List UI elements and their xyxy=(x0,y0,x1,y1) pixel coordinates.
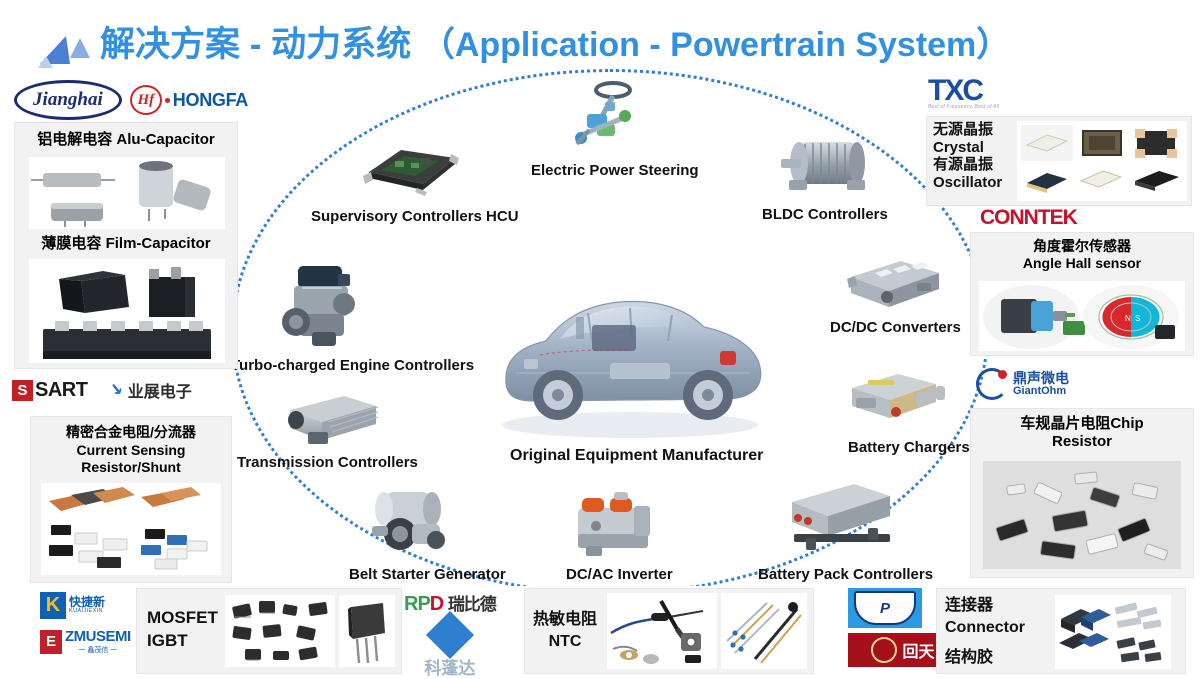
ntc-box: 热敏电阻 NTC xyxy=(524,588,814,674)
node-label-bpc: Battery Pack Controllers xyxy=(758,566,933,583)
giantohm-mark-icon xyxy=(976,368,1008,400)
film-cap-label-en: Film-Capacitor xyxy=(106,235,211,252)
panel-capacitors: Jianghai Hf HONGFA 铝电解电容 Alu-Capacitor xyxy=(8,80,248,370)
hall-label-cn: 角度霍尔传感器 xyxy=(971,238,1193,255)
panel-current-sensing: S SART ↘ 业展电子 精密合金电阻/分流器 Current Sensing… xyxy=(8,378,240,578)
txc-logo: TXC Best of Frequency, Best of All xyxy=(928,78,999,110)
turbo-engine-photo xyxy=(272,252,372,352)
crystal-line-4: Oscillator xyxy=(933,174,1002,192)
hongfa-dot-icon xyxy=(165,98,170,103)
huitian-ring-icon xyxy=(871,637,897,663)
mosfet-igbt-box: MOSFET IGBT xyxy=(136,588,402,674)
chip-resistor-label-en: Resistor xyxy=(971,433,1193,451)
page-title-cn: 解决方案 - 动力系统 xyxy=(100,25,411,64)
crystal-line-3: 有源晶振 xyxy=(933,156,1002,174)
connector-brand-logo: P xyxy=(848,588,922,628)
hero-label: Original Equipment Manufacturer xyxy=(510,447,763,465)
ntc-probe-photo xyxy=(607,593,717,669)
svg-text:S: S xyxy=(1135,314,1140,323)
ntc-label-cn: 热敏电阻 xyxy=(533,609,597,631)
steering-column-photo xyxy=(565,78,649,158)
hongfa-logo: Hf HONGFA xyxy=(130,85,248,115)
panel-chip-resistor: 鼎声微电 GiantOhm 车规晶片电阻Chip Resistor xyxy=(966,366,1198,580)
panel-angle-hall-sensor: CONNTEK 角度霍尔传感器 Angle Hall sensor xyxy=(966,204,1196,356)
shunt-label-cn: 精密合金电阻/分流器 xyxy=(31,424,231,442)
kuaijiexin-logo: K 快捷新 KUAIJIEXIN xyxy=(40,590,118,620)
crystal-line-1: 无源晶振 xyxy=(933,121,1002,139)
node-label-tcu: Transmission Controllers xyxy=(237,454,418,471)
node-label-inverter: DC/AC Inverter xyxy=(566,566,673,583)
chip-resistor-label-cn: 车规晶片电阻Chip xyxy=(971,415,1193,433)
jianghai-logo: Jianghai xyxy=(14,80,122,120)
hongfa-mark-icon: Hf xyxy=(130,85,162,115)
bottom-group-ntc: RPD 瑞比德 科蓬达 xyxy=(404,590,496,679)
page-title-en: （Application - Powertrain System） xyxy=(421,26,1010,64)
alu-cap-label-en: Alu-Capacitor xyxy=(116,131,214,148)
igbt-label: IGBT xyxy=(147,630,218,653)
svg-text:N: N xyxy=(1125,314,1131,323)
zmusemi-logo: E ZMUSEMI 一 鑫茂信 一 xyxy=(40,628,131,655)
dcac-inverter-photo xyxy=(562,490,666,560)
ntc-cable-photo xyxy=(721,593,807,669)
film-cap-label-cn: 薄膜电容 xyxy=(41,235,101,252)
bldc-motor-photo xyxy=(775,128,875,200)
chip-resistor-photo xyxy=(983,461,1181,569)
node-label-bldc: BLDC Controllers xyxy=(762,206,888,223)
slide-canvas: 解决方案 - 动力系统 （Application - Powertrain Sy… xyxy=(0,0,1200,674)
adhesive-label-cn: 结构胶 xyxy=(945,643,993,667)
connector-label-en: Connector xyxy=(945,617,1025,639)
battery-pack-controller-photo xyxy=(772,480,898,556)
hall-label-en: Angle Hall sensor xyxy=(971,255,1193,272)
connector-label-cn: 连接器 xyxy=(945,595,1025,617)
smd-mosfet-photo xyxy=(225,595,335,667)
node-label-turbo: Turbo-charged Engine Controllers xyxy=(231,357,474,374)
kelongda-mark-icon xyxy=(426,611,474,659)
cutaway-car-photo xyxy=(480,255,780,445)
connector-box: 连接器 Connector 结构胶 xyxy=(936,588,1186,674)
transmission-control-unit-photo xyxy=(272,388,380,450)
bottom-group-mosfet: K 快捷新 KUAIJIEXIN E ZMUSEMI 一 鑫茂信 一 xyxy=(40,590,131,655)
crystal-line-2: Crystal xyxy=(933,139,1002,157)
film-capacitor-photo xyxy=(29,259,225,363)
node-label-charger: Battery Chargers xyxy=(848,439,970,456)
crystal-package-photo xyxy=(1017,121,1187,201)
panel-crystal-oscillator: TXC Best of Frequency, Best of All 无源晶振 … xyxy=(922,78,1194,206)
belt-starter-generator-photo xyxy=(360,482,460,558)
conntek-logo: CONNTEK xyxy=(980,206,1077,230)
node-label-dcdc: DC/DC Converters xyxy=(830,319,961,336)
mosfet-label: MOSFET xyxy=(147,607,218,630)
shunt-resistor-photo xyxy=(41,483,221,575)
ntc-label-en: NTC xyxy=(533,631,597,653)
alu-capacitor-photo xyxy=(29,157,225,229)
yezhan-mark-icon: ↘ xyxy=(107,380,126,400)
giantohm-logo: 鼎声微电 GiantOhm xyxy=(976,368,1069,400)
triangles-logo-icon xyxy=(36,28,100,70)
sart-mark-icon: S xyxy=(12,380,33,401)
yezhan-logo: ↘ 业展电子 xyxy=(109,378,191,402)
sart-logo: S SART xyxy=(12,379,87,402)
bottom-strip: K 快捷新 KUAIJIEXIN E ZMUSEMI 一 鑫茂信 一 MOSFE… xyxy=(0,586,1200,674)
onboard-charger-photo xyxy=(838,368,950,432)
dcdc-converter-photo xyxy=(835,253,945,319)
automotive-connector-photo xyxy=(1055,595,1171,669)
through-hole-igbt-photo xyxy=(339,595,395,667)
node-label-eps: Electric Power Steering xyxy=(531,162,699,179)
hcu-ecu-module-photo xyxy=(355,132,465,198)
slide-header: 解决方案 - 动力系统 （Application - Powertrain Sy… xyxy=(0,6,1200,68)
zmusemi-mark-icon: E xyxy=(40,630,62,654)
node-label-bsg: Belt Starter Generator xyxy=(349,566,506,583)
node-label-hcu: Supervisory Controllers HCU xyxy=(311,208,519,225)
kelongda-logo: 科蓬达 xyxy=(404,618,496,679)
alu-cap-label-cn: 铝电解电容 xyxy=(37,131,112,148)
kuaijiexin-mark-icon: K xyxy=(40,592,66,619)
page-title: 解决方案 - 动力系统 （Application - Powertrain Sy… xyxy=(100,16,1010,67)
hall-sensor-photo: N S xyxy=(979,281,1185,351)
connector-brand-mark-icon: P xyxy=(854,591,916,625)
shunt-label-en: Current Sensing Resistor/Shunt xyxy=(31,442,231,477)
